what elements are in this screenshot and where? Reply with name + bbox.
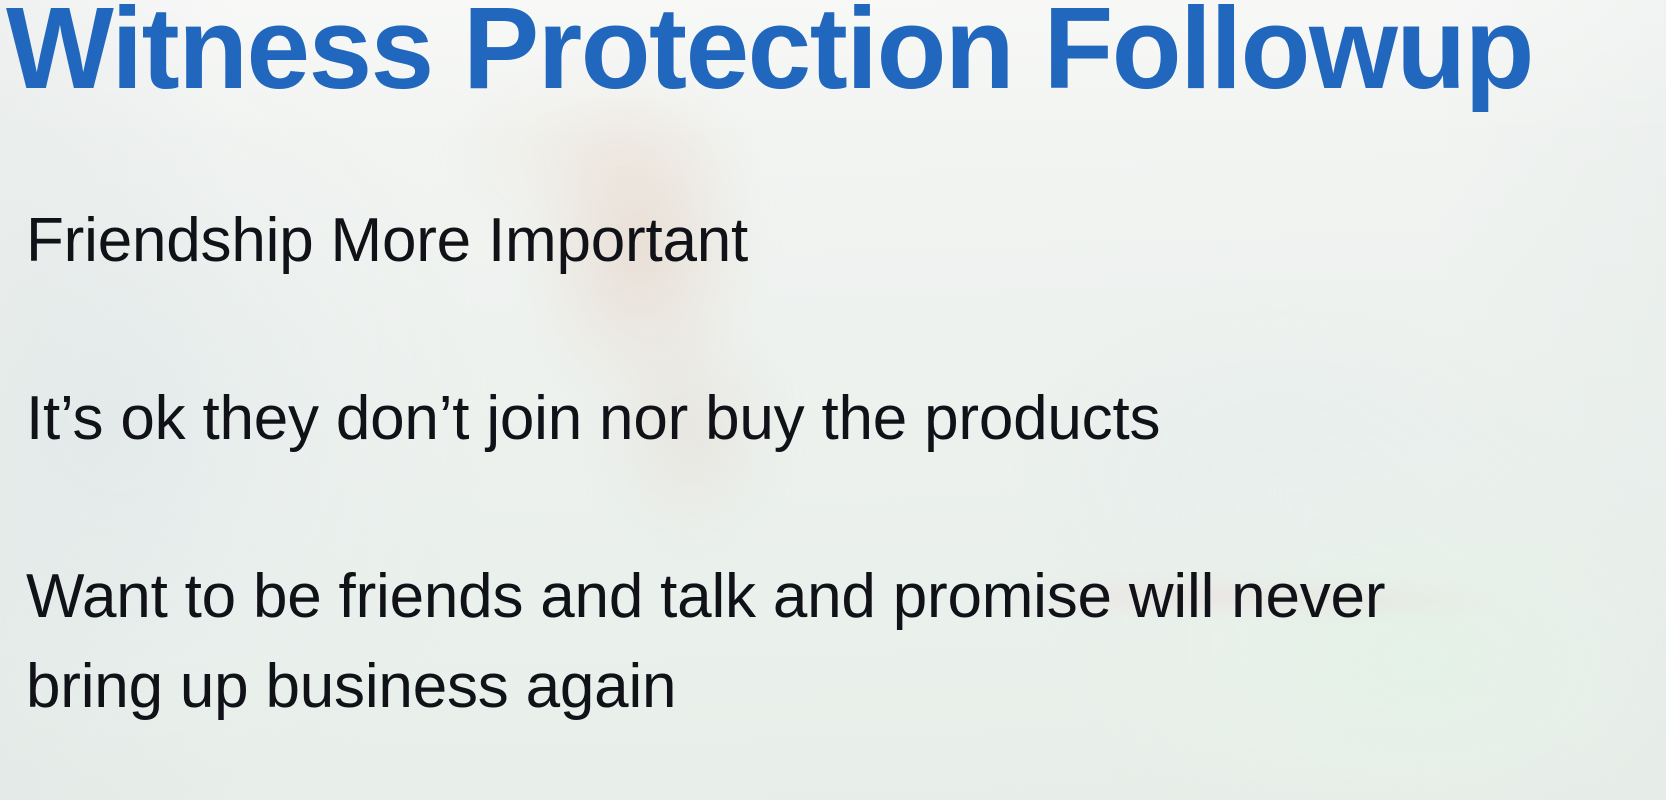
presentation-slide: Witness Protection Followup Friendship M…	[0, 0, 1666, 800]
bullet-line-3: Want to be friends and talk and promise …	[26, 552, 1506, 732]
bullet-line-2: It’s ok they don’t join nor buy the prod…	[26, 374, 1646, 464]
slide-title: Witness Protection Followup	[6, 0, 1641, 111]
bullet-spacer-1	[26, 286, 1646, 374]
slide-body: Friendship More Important It’s ok they d…	[26, 196, 1646, 732]
bullet-spacer-2	[26, 464, 1646, 552]
bullet-line-1: Friendship More Important	[26, 196, 1646, 286]
slide-content: Witness Protection Followup Friendship M…	[0, 0, 1666, 800]
